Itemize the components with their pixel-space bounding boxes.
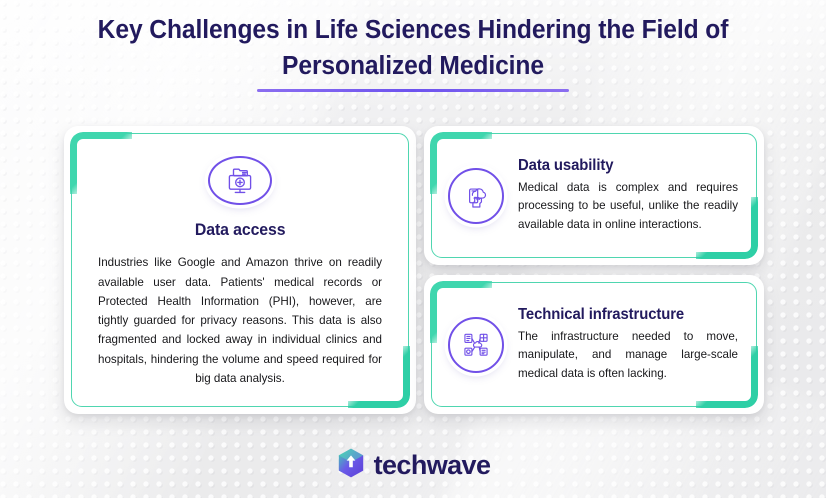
logo-wordmark: techwave — [374, 450, 491, 481]
card-text-column: Technical infrastructure The infrastruct… — [518, 306, 738, 382]
server-network-icon — [448, 317, 504, 373]
card-inner-border: Data access Industries like Google and A… — [71, 133, 409, 407]
card-data-access[interactable]: Data access Industries like Google and A… — [64, 126, 416, 414]
cards-column-left: Data access Industries like Google and A… — [64, 126, 416, 414]
hand-phone-cloud-icon — [448, 168, 504, 224]
card-inner-border: Data usability Medical data is complex a… — [431, 133, 757, 258]
medical-records-monitor-icon — [208, 156, 272, 205]
card-technical-infrastructure[interactable]: Technical infrastructure The infrastruct… — [424, 275, 764, 414]
card-content: Data usability Medical data is complex a… — [432, 134, 756, 257]
card-title: Technical infrastructure — [518, 306, 729, 324]
cards-grid: Data access Industries like Google and A… — [64, 126, 764, 414]
cards-column-right: Data usability Medical data is complex a… — [424, 126, 764, 414]
page-title: Key Challenges in Life Sciences Hinderin… — [14, 12, 811, 84]
title-underline — [257, 89, 569, 92]
card-text-column: Data usability Medical data is complex a… — [518, 157, 738, 233]
card-body-text: The infrastructure needed to move, manip… — [518, 328, 738, 382]
footer-logo: techwave — [0, 447, 826, 484]
card-body-text: Medical data is complex and requires pro… — [518, 179, 738, 233]
card-inner-border: Technical infrastructure The infrastruct… — [431, 282, 757, 407]
card-body-text: Industries like Google and Amazon thrive… — [98, 253, 382, 388]
card-content: Technical infrastructure The infrastruct… — [432, 283, 756, 406]
infographic-page: Key Challenges in Life Sciences Hinderin… — [0, 0, 826, 498]
card-title: Data usability — [518, 157, 729, 175]
card-data-usability[interactable]: Data usability Medical data is complex a… — [424, 126, 764, 265]
card-title: Data access — [195, 221, 286, 240]
techwave-cube-logo-icon — [336, 447, 366, 484]
header: Key Challenges in Life Sciences Hinderin… — [0, 0, 826, 92]
card-content: Data access Industries like Google and A… — [72, 134, 408, 406]
